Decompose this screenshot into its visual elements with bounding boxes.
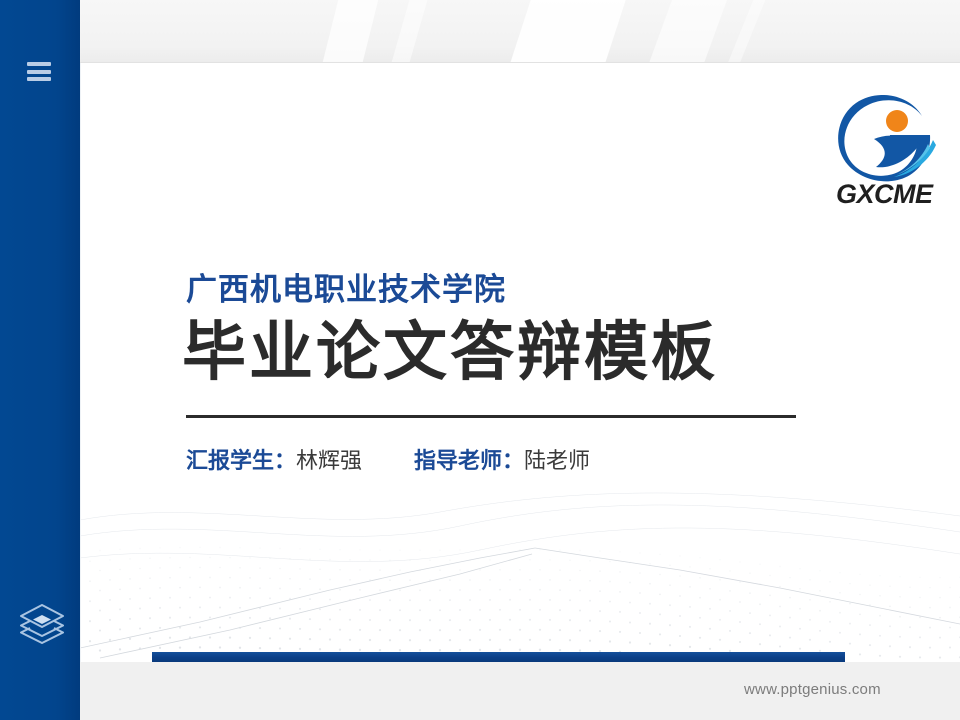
hamburger-icon[interactable]	[27, 62, 51, 81]
gxcme-logo: GXCME	[834, 95, 946, 215]
hamburger-bar	[27, 70, 51, 74]
background-top-band	[0, 0, 960, 66]
presenter-meta: 汇报学生：林辉强指导老师：陆老师	[186, 448, 590, 474]
logo-wordmark: GXCME	[836, 179, 948, 210]
title-divider-rule	[186, 415, 796, 418]
student-label: 汇报学生：	[186, 448, 296, 473]
hamburger-bar	[27, 77, 51, 81]
school-name: 广西机电职业技术学院	[186, 264, 506, 309]
background-swoosh	[648, 0, 727, 66]
background-swoosh	[391, 0, 428, 66]
accent-blue-bar	[152, 652, 845, 662]
hamburger-bar	[27, 62, 51, 66]
page-title: 毕业论文答辩模板	[182, 320, 718, 384]
website-url: www.pptgenius.com	[744, 681, 881, 698]
presentation-slide: GXCME 广西机电职业技术学院 毕业论文答辩模板 汇报学生：林辉强指导老师：陆…	[0, 0, 960, 720]
layers-stack-icon[interactable]	[18, 600, 66, 644]
left-blue-rail	[0, 0, 80, 720]
card-left-edge	[80, 63, 81, 662]
mesh-wave-decoration	[80, 462, 960, 662]
advisor-label: 指导老师：	[414, 448, 524, 473]
background-swoosh	[322, 0, 378, 66]
gxcme-g-logo-icon	[834, 95, 946, 183]
background-swoosh	[509, 0, 625, 66]
advisor-name: 陆老师	[524, 448, 590, 473]
student-name: 林辉强	[296, 448, 362, 473]
background-swoosh	[727, 0, 766, 66]
